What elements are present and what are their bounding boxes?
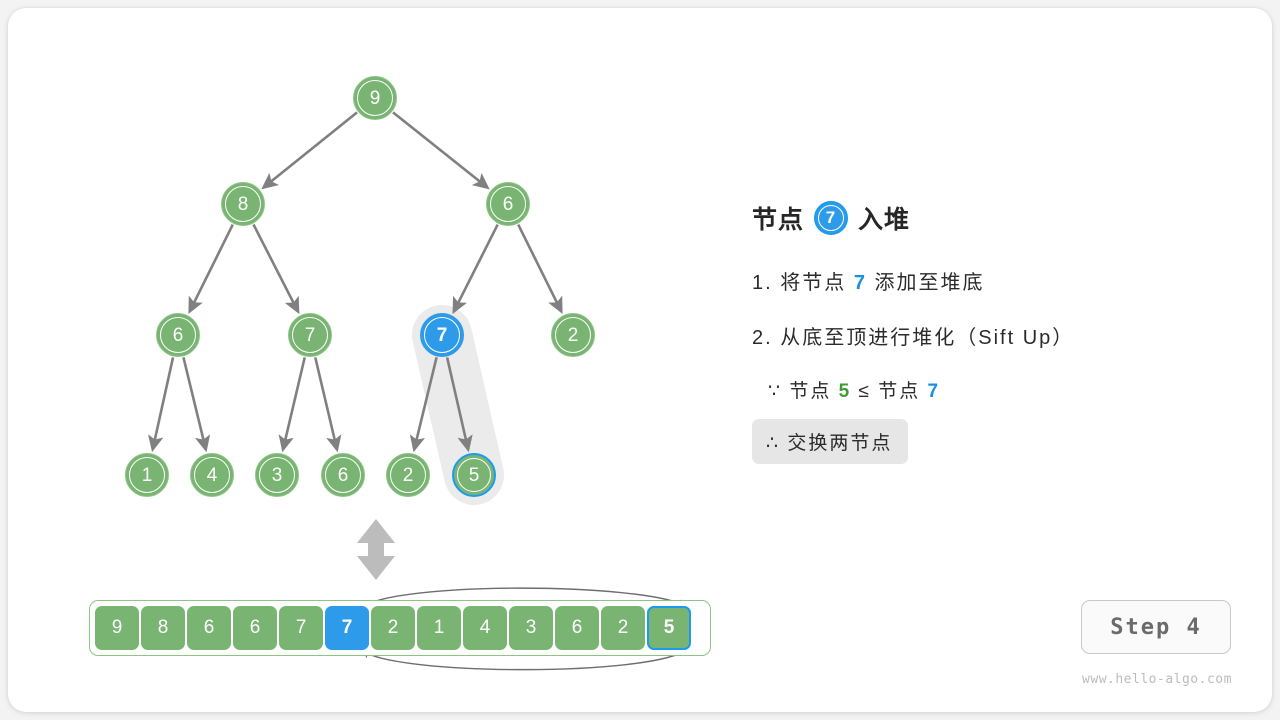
step-2-text-before: 从底至顶进行堆化（Sift Up） (780, 327, 1074, 349)
array-cell-12: 5 (647, 606, 691, 650)
reason-line: ∵ 节点 5 ≤ 节点 7 (768, 376, 1232, 403)
tree-node-n8: 4 (190, 453, 234, 497)
reason-operator: ≤ (859, 381, 871, 402)
node-value: 5 (469, 466, 480, 485)
node-value: 8 (238, 195, 249, 214)
watermark: www.hello-algo.com (1072, 672, 1242, 687)
tree-node-n6: 2 (551, 313, 595, 357)
step-1-highlight-value: 7 (854, 272, 867, 294)
array-cell-7: 1 (417, 606, 461, 650)
node-value: 7 (437, 326, 448, 345)
step-1-text-after: 添加至堆底 (875, 272, 985, 294)
reason-left-value: 5 (839, 381, 852, 402)
node-value: 2 (403, 466, 414, 485)
because-symbol: ∵ (768, 381, 782, 402)
tree-node-n9: 3 (255, 453, 299, 497)
array-cell-9: 3 (509, 606, 553, 650)
node-value: 6 (173, 326, 184, 345)
node-value: 6 (503, 195, 514, 214)
screenshot-canvas: 9866772143625 9866772143625 节点 7 入堆 1. 将… (0, 0, 1280, 720)
tree-node-n2: 6 (486, 182, 530, 226)
tree-node-n1: 8 (221, 182, 265, 226)
explanation-panel: 节点 7 入堆 1. 将节点 7 添加至堆底 2. 从底至顶进行堆化（Sift … (752, 196, 1232, 464)
array-cell-4: 7 (279, 606, 323, 650)
node-value: 9 (370, 89, 381, 108)
step-1-number: 1. (752, 272, 773, 294)
panel-title-badge-value: 7 (826, 208, 836, 228)
watermark-text: www.hello-algo.com (1082, 672, 1232, 687)
panel-title: 节点 7 入堆 (752, 196, 1232, 240)
reason-left-label: 节点 (789, 381, 831, 402)
node-value: 4 (207, 466, 218, 485)
panel-title-suffix: 入堆 (858, 200, 910, 236)
array-cell-2: 6 (187, 606, 231, 650)
step-2-number: 2. (752, 327, 773, 349)
step-1-line: 1. 将节点 7 添加至堆底 (752, 266, 1232, 295)
tree-node-n11: 2 (386, 453, 430, 497)
tree-node-n5: 7 (420, 313, 464, 357)
step-badge-label: Step 4 (1110, 615, 1201, 640)
reason-right-label: 节点 (878, 381, 920, 402)
array-cell-6: 2 (371, 606, 415, 650)
panel-title-node-badge: 7 (814, 201, 848, 235)
tree-node-n0: 9 (353, 76, 397, 120)
array-cell-10: 6 (555, 606, 599, 650)
tree-node-n10: 6 (321, 453, 365, 497)
array-cell-8: 4 (463, 606, 507, 650)
step-2-line: 2. 从底至顶进行堆化（Sift Up） (752, 321, 1232, 350)
node-value: 7 (305, 326, 316, 345)
tree-node-n3: 6 (156, 313, 200, 357)
therefore-symbol: ∴ (766, 433, 780, 454)
array-cell-0: 9 (95, 606, 139, 650)
tree-node-n7: 1 (125, 453, 169, 497)
node-value: 1 (142, 466, 153, 485)
array-cell-1: 8 (141, 606, 185, 650)
node-value: 6 (338, 466, 349, 485)
tree-node-n4: 7 (288, 313, 332, 357)
node-value: 3 (272, 466, 283, 485)
array-cell-3: 6 (233, 606, 277, 650)
conclusion-text: 交换两节点 (787, 433, 892, 454)
step-badge: Step 4 (1081, 600, 1231, 654)
tree-node-n12: 5 (452, 453, 496, 497)
array-cell-5: 7 (325, 606, 369, 650)
node-value: 2 (568, 326, 579, 345)
array-cell-11: 2 (601, 606, 645, 650)
conclusion-badge: ∴ 交换两节点 (752, 419, 908, 464)
step-1-text-before: 将节点 (780, 272, 846, 294)
panel-title-prefix: 节点 (752, 200, 804, 236)
reason-right-value: 7 (928, 381, 941, 402)
array-cells: 9866772143625 (95, 606, 691, 650)
